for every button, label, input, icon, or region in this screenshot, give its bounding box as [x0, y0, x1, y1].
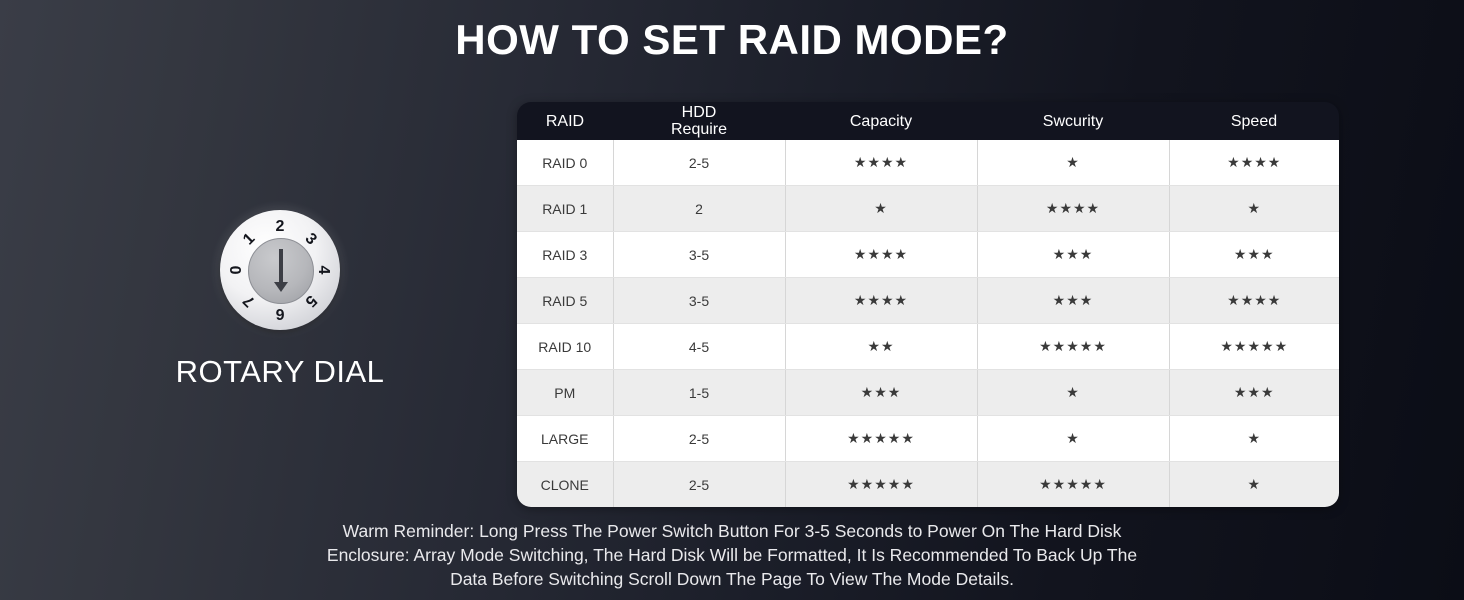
dial-digit-0: 0: [229, 262, 245, 278]
cell-raid-mode: CLONE: [517, 462, 613, 508]
cell-speed-rating: ★: [1169, 462, 1339, 508]
raid-mode-infographic: HOW TO SET RAID MODE? 0 1 2 3 4 5 6 7 RO…: [0, 0, 1464, 600]
cell-hdd-require: 2-5: [613, 462, 785, 508]
cell-security-rating: ★★★: [977, 232, 1169, 278]
page-title: HOW TO SET RAID MODE?: [0, 16, 1464, 64]
cell-speed-rating: ★★★★★: [1169, 324, 1339, 370]
cell-security-rating: ★: [977, 370, 1169, 416]
cell-capacity-rating: ★★★★: [785, 232, 977, 278]
cell-hdd-require: 3-5: [613, 232, 785, 278]
rotary-dial-label: ROTARY DIAL: [120, 354, 440, 390]
rotary-dial-panel: 0 1 2 3 4 5 6 7 ROTARY DIAL: [120, 210, 440, 390]
down-arrow-icon: [279, 249, 283, 283]
cell-security-rating: ★★★: [977, 278, 1169, 324]
rotary-dial[interactable]: 0 1 2 3 4 5 6 7: [220, 210, 340, 330]
column-header-hdd-line1: HDD: [682, 104, 717, 121]
table-header: RAID HDD Require Capacity Swcurity Speed: [517, 102, 1339, 140]
cell-security-rating: ★: [977, 416, 1169, 462]
cell-speed-rating: ★★★★: [1169, 140, 1339, 186]
cell-hdd-require: 2-5: [613, 416, 785, 462]
table-row: RAID 5 3-5 ★★★★ ★★★ ★★★★: [517, 278, 1339, 324]
column-header-speed: Speed: [1169, 102, 1339, 140]
table-row: RAID 3 3-5 ★★★★ ★★★ ★★★: [517, 232, 1339, 278]
cell-security-rating: ★: [977, 140, 1169, 186]
table-row: CLONE 2-5 ★★★★★ ★★★★★ ★: [517, 462, 1339, 508]
cell-capacity-rating: ★★★★: [785, 278, 977, 324]
cell-speed-rating: ★: [1169, 186, 1339, 232]
cell-security-rating: ★★★★★: [977, 462, 1169, 508]
cell-hdd-require: 1-5: [613, 370, 785, 416]
cell-raid-mode: RAID 3: [517, 232, 613, 278]
raid-mode-table-container: RAID HDD Require Capacity Swcurity Speed…: [517, 102, 1339, 507]
note-line-3: Data Before Switching Scroll Down The Pa…: [0, 567, 1464, 591]
dial-digit-6: 6: [272, 305, 288, 321]
table-row: LARGE 2-5 ★★★★★ ★ ★: [517, 416, 1339, 462]
cell-hdd-require: 3-5: [613, 278, 785, 324]
cell-hdd-require: 4-5: [613, 324, 785, 370]
cell-capacity-rating: ★★★★: [785, 140, 977, 186]
cell-speed-rating: ★★★: [1169, 232, 1339, 278]
cell-capacity-rating: ★★★★★: [785, 462, 977, 508]
cell-raid-mode: PM: [517, 370, 613, 416]
cell-raid-mode: RAID 10: [517, 324, 613, 370]
table-row: PM 1-5 ★★★ ★ ★★★: [517, 370, 1339, 416]
cell-capacity-rating: ★★: [785, 324, 977, 370]
cell-capacity-rating: ★: [785, 186, 977, 232]
cell-speed-rating: ★★★: [1169, 370, 1339, 416]
dial-digit-4: 4: [315, 262, 331, 278]
dial-digit-2: 2: [272, 219, 288, 235]
column-header-capacity: Capacity: [785, 102, 977, 140]
cell-security-rating: ★★★★★: [977, 324, 1169, 370]
warm-reminder-note: Warm Reminder: Long Press The Power Swit…: [0, 519, 1464, 591]
note-line-1: Warm Reminder: Long Press The Power Swit…: [0, 519, 1464, 543]
cell-raid-mode: LARGE: [517, 416, 613, 462]
table-body: RAID 0 2-5 ★★★★ ★ ★★★★ RAID 1 2 ★ ★★★★ ★…: [517, 140, 1339, 507]
note-line-2: Enclosure: Array Mode Switching, The Har…: [0, 543, 1464, 567]
column-header-hdd-require: HDD Require: [613, 102, 785, 140]
column-header-security: Swcurity: [977, 102, 1169, 140]
cell-speed-rating: ★★★★: [1169, 278, 1339, 324]
cell-raid-mode: RAID 1: [517, 186, 613, 232]
table-row: RAID 0 2-5 ★★★★ ★ ★★★★: [517, 140, 1339, 186]
cell-capacity-rating: ★★★: [785, 370, 977, 416]
cell-capacity-rating: ★★★★★: [785, 416, 977, 462]
raid-mode-table: RAID HDD Require Capacity Swcurity Speed…: [517, 102, 1339, 507]
column-header-raid: RAID: [517, 102, 613, 140]
cell-raid-mode: RAID 0: [517, 140, 613, 186]
dial-knob[interactable]: [248, 238, 314, 304]
table-row: RAID 10 4-5 ★★ ★★★★★ ★★★★★: [517, 324, 1339, 370]
cell-hdd-require: 2-5: [613, 140, 785, 186]
cell-hdd-require: 2: [613, 186, 785, 232]
table-header-row: RAID HDD Require Capacity Swcurity Speed: [517, 102, 1339, 140]
column-header-hdd-line2: Require: [613, 121, 785, 138]
cell-security-rating: ★★★★: [977, 186, 1169, 232]
cell-speed-rating: ★: [1169, 416, 1339, 462]
table-row: RAID 1 2 ★ ★★★★ ★: [517, 186, 1339, 232]
cell-raid-mode: RAID 5: [517, 278, 613, 324]
